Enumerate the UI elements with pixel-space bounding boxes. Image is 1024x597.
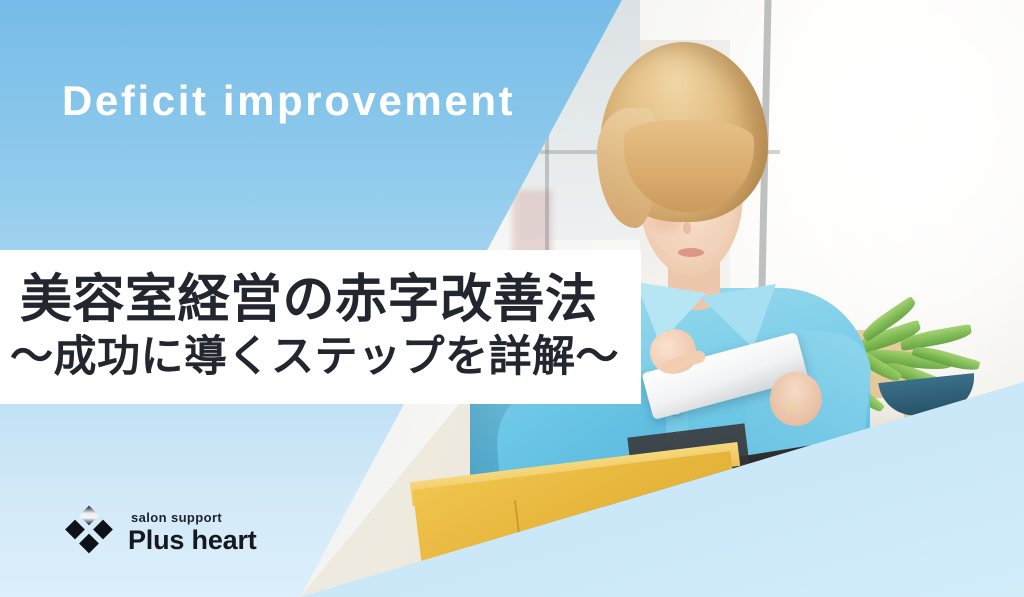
banner-kicker: Deficit improvement (62, 76, 515, 126)
brand-logo-text: salon support Plus heart (128, 511, 257, 554)
brand-tagline: salon support (131, 511, 257, 524)
brand-name: Plus heart (128, 527, 257, 554)
four-diamond-icon (62, 505, 116, 559)
brand-logo[interactable]: salon support Plus heart (62, 505, 257, 559)
photo-person-mouth (678, 248, 704, 257)
page-title: 美容室経営の赤字改善法 (0, 273, 641, 328)
title-band: 美容室経営の赤字改善法 〜成功に導くステップを詳解〜 (0, 250, 641, 404)
page-subtitle: 〜成功に導くステップを詳解〜 (0, 334, 641, 380)
hero-banner: Deficit improvement 美容室経営の赤字改善法 〜成功に導くステ… (0, 0, 1024, 597)
photo-finger-ring (786, 404, 798, 409)
photo-person-nose (683, 222, 691, 234)
